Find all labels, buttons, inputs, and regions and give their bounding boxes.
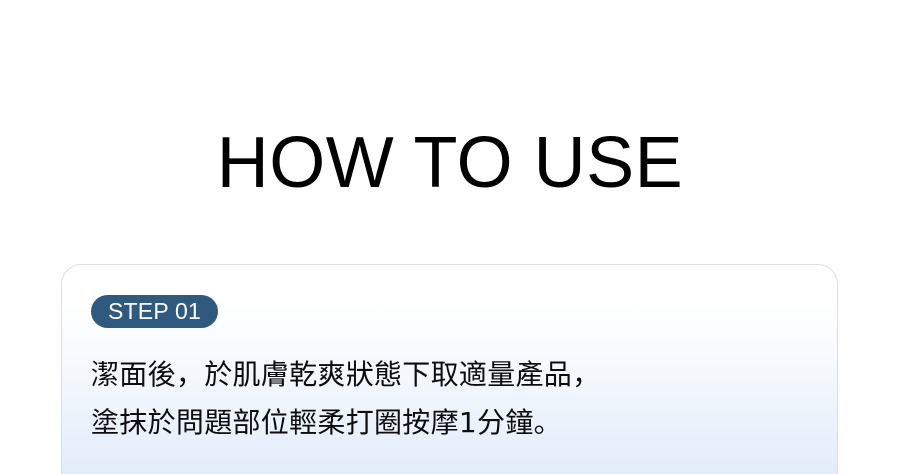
step-instruction-line: 塗抹於問題部位輕柔打圈按摩1分鐘。 [91,399,791,447]
step-instruction-line: 潔面後，於肌膚乾爽狀態下取適量產品， [91,351,791,399]
step-badge: STEP 01 [91,295,218,328]
step-badge-label: STEP 01 [108,295,201,328]
how-to-use-section: HOW TO USE STEP 01 潔面後，於肌膚乾爽狀態下取適量產品， 塗抹… [0,0,900,468]
step-card: STEP 01 潔面後，於肌膚乾爽狀態下取適量產品， 塗抹於問題部位輕柔打圈按摩… [61,264,838,474]
page-title: HOW TO USE [0,121,900,205]
step-instructions: 潔面後，於肌膚乾爽狀態下取適量產品， 塗抹於問題部位輕柔打圈按摩1分鐘。 [91,351,791,447]
step-card-content: STEP 01 潔面後，於肌膚乾爽狀態下取適量產品， 塗抹於問題部位輕柔打圈按摩… [62,265,837,474]
